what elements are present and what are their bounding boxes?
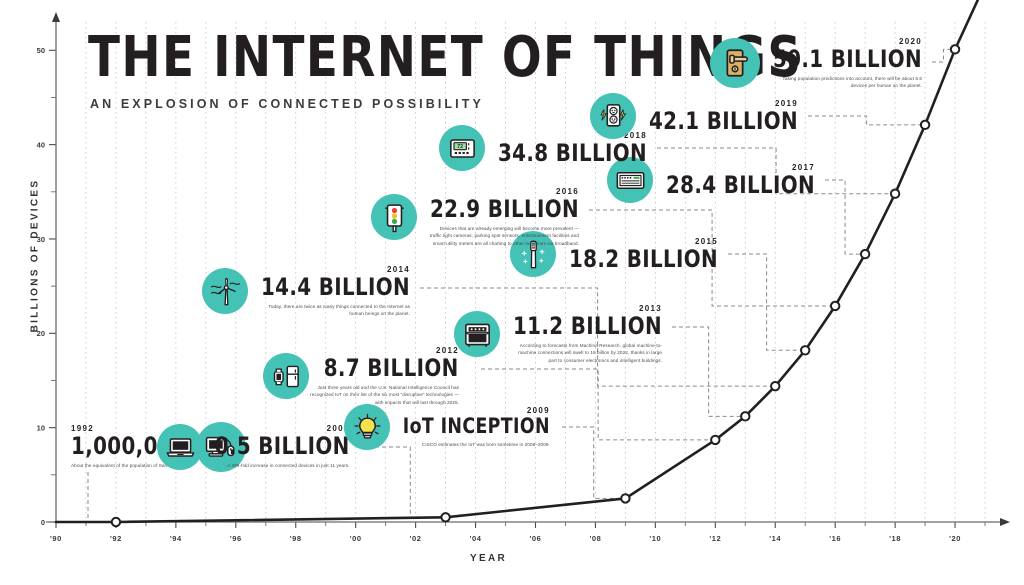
x-axis-title: YEAR (470, 553, 507, 564)
callout-value: 11.2 BILLION (513, 314, 662, 338)
leader-line-2015 (728, 254, 801, 350)
callout-value: 50.1 BILLION (773, 47, 922, 71)
callout-description: Today, there are twice as many things co… (260, 303, 410, 318)
data-point-marker-2013[interactable] (741, 412, 749, 420)
callout-description: Devices that are already emerging will b… (429, 225, 579, 247)
x-axis-arrow (1000, 518, 1010, 526)
power-outlet-icon (590, 93, 636, 139)
infographic-canvas: '90'92'94'96'98'00'02'04'06'08'10'12'14'… (0, 0, 1024, 585)
callout-text-2014: 201414.4 BILLIONToday, there are twice a… (248, 265, 418, 318)
callout-text-2013: 201311.2 BILLIONAccording to forecasts f… (500, 304, 670, 364)
data-point-marker-2009[interactable] (621, 494, 629, 502)
callout-value: IoT INCEPTION (403, 416, 550, 437)
callout-description: Taking population predictions into accou… (772, 75, 922, 90)
leader-line-2009 (562, 427, 621, 498)
callout-value: 18.2 BILLION (569, 247, 718, 271)
callout-2016[interactable]: 201622.9 BILLIONDevices that are already… (371, 187, 587, 247)
x-axis-tick-label: '04 (470, 534, 482, 543)
callout-2013[interactable]: 201311.2 BILLIONAccording to forecasts f… (454, 304, 670, 364)
y-axis-tick-label: 10 (37, 423, 45, 432)
traffic-light-icon (371, 194, 417, 240)
callout-value: 42.1 BILLION (649, 109, 798, 133)
data-point-marker-2012[interactable] (711, 436, 719, 444)
callout-description: A 499-fold increase in connected devices… (227, 462, 349, 469)
data-point-marker-1992[interactable] (112, 518, 120, 526)
x-axis-tick-label: '20 (949, 534, 961, 543)
callout-value: 0.5 BILLION (215, 434, 350, 458)
callout-2020[interactable]: 202050.1 BILLIONTaking population predic… (710, 37, 930, 90)
x-axis-tick-label: '02 (410, 534, 422, 543)
y-axis-tick-label: 50 (37, 46, 45, 55)
lightbulb-icon (344, 404, 390, 450)
callout-2012[interactable]: 20128.7 BILLIONJust three years old and … (263, 346, 479, 406)
x-axis-tick-labels-group: '90'92'94'96'98'00'02'04'06'08'10'12'14'… (50, 534, 961, 543)
callout-value: 22.9 BILLION (430, 197, 579, 221)
x-axis-tick-label: '10 (649, 534, 661, 543)
callout-description: CISCO estimates the IoT was born sometim… (422, 441, 550, 448)
leader-line-2017 (825, 180, 861, 254)
data-point-marker-2015[interactable] (801, 346, 809, 354)
callout-description: Just three years old and the U.S. Nation… (309, 384, 459, 406)
data-point-marker-2020[interactable] (951, 45, 959, 53)
x-axis-tick-label: '08 (589, 534, 601, 543)
callout-text-2019: 201942.1 BILLION (636, 99, 806, 133)
y-axis-tick-label: 0 (41, 518, 45, 527)
leader-line-2003 (375, 447, 442, 517)
x-axis-tick-label: '90 (50, 534, 62, 543)
leader-line-2013 (672, 327, 741, 416)
callout-text-2012: 20128.7 BILLIONJust three years old and … (309, 346, 467, 406)
callout-text-2016: 201622.9 BILLIONDevices that are already… (417, 187, 587, 247)
smartwatch-fridge-icon (263, 353, 309, 399)
y-axis-ticks-group (49, 50, 56, 522)
wind-turbine-icon (202, 268, 248, 314)
page-subtitle: AN EXPLOSION OF CONNECTED POSSIBILITY (90, 97, 484, 111)
oven-icon (454, 311, 500, 357)
callout-text-2020: 202050.1 BILLIONTaking population predic… (760, 37, 930, 90)
x-axis-tick-label: '12 (709, 534, 721, 543)
y-axis-title: BILLIONS OF DEVICES (30, 176, 41, 336)
callout-2014[interactable]: 201414.4 BILLIONToday, there are twice a… (202, 265, 418, 318)
thermostat-icon (439, 125, 485, 171)
x-axis-tick-label: '06 (530, 534, 542, 543)
callout-text-2003: 20030.5 BILLIONA 499-fold increase in co… (203, 424, 358, 469)
leader-line-2020 (932, 49, 951, 62)
callout-2003[interactable]: 20030.5 BILLIONA 499-fold increase in co… (157, 424, 373, 470)
x-axis-tick-label: '00 (350, 534, 362, 543)
data-point-marker-2003[interactable] (441, 513, 449, 521)
data-point-marker-2019[interactable] (921, 121, 929, 129)
data-point-marker-2014[interactable] (771, 382, 779, 390)
door-handle-icon (710, 38, 760, 88)
x-axis-tick-label: '94 (170, 534, 182, 543)
x-axis-tick-label: '14 (769, 534, 781, 543)
x-axis-tick-label: '92 (110, 534, 122, 543)
callout-2009[interactable]: 2009IoT INCEPTIONCISCO estimates the IoT… (344, 404, 560, 450)
laptop-icon (157, 424, 203, 470)
callout-text-2009: 2009IoT INCEPTIONCISCO estimates the IoT… (390, 406, 558, 448)
data-point-marker-2018[interactable] (891, 189, 899, 197)
callout-value: 34.8 BILLION (498, 141, 647, 165)
callout-value: 14.4 BILLION (261, 275, 410, 299)
data-point-marker-2016[interactable] (831, 302, 839, 310)
callout-value: 28.4 BILLION (666, 173, 815, 197)
callout-2019[interactable]: 201942.1 BILLION (590, 93, 806, 139)
y-axis-tick-label: 40 (37, 140, 45, 149)
callout-description: According to forecasts from Machina Rese… (512, 342, 662, 364)
x-axis-tick-label: '18 (889, 534, 901, 543)
x-axis-tick-label: '98 (290, 534, 302, 543)
y-axis-arrow (52, 12, 60, 22)
x-axis-ticks-group (56, 522, 985, 528)
leader-line-2019 (808, 116, 921, 125)
callout-value: 8.7 BILLION (324, 356, 459, 380)
x-axis-tick-label: '16 (829, 534, 841, 543)
data-point-marker-2017[interactable] (861, 250, 869, 258)
x-axis-tick-label: '96 (230, 534, 242, 543)
page-title: THE INTERNET OF THINGS (88, 30, 803, 86)
callout-text-2017: 201728.4 BILLION (653, 163, 823, 197)
